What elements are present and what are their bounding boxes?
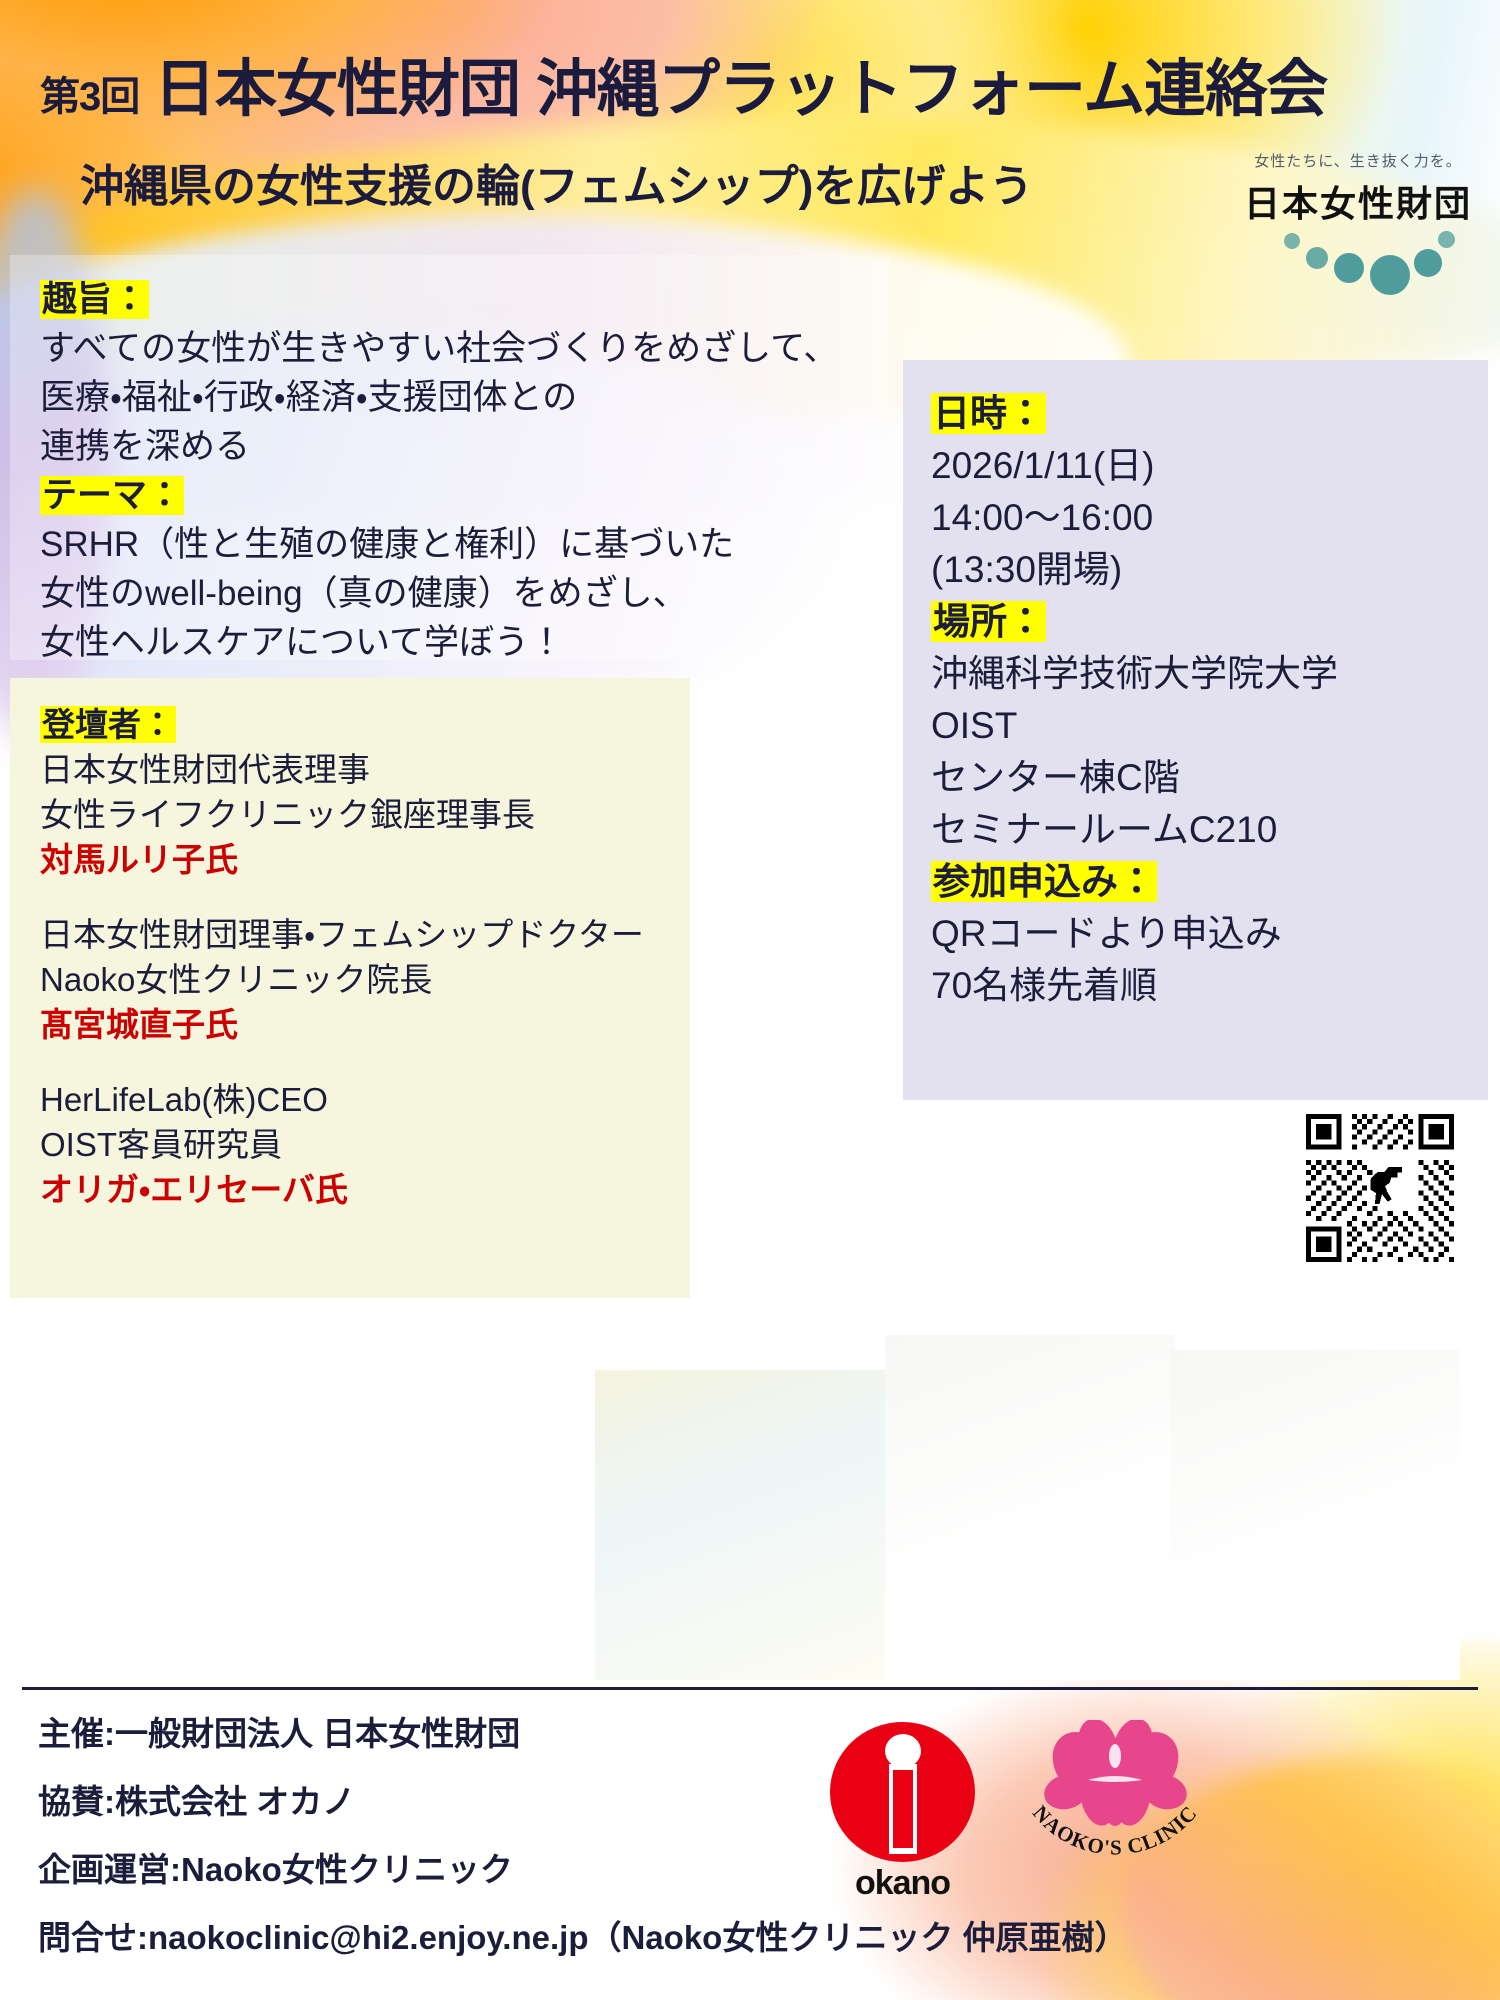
purpose-line-2: 医療・福祉・行政・経済・支援団体との xyxy=(40,373,838,422)
event-info-panel: 日時： 2026/1/11(日) 14:00～16:00 (13:30開場) 場… xyxy=(903,360,1488,1100)
speaker-affiliation: 女性ライフクリニック銀座理事長 xyxy=(40,792,644,837)
speaker-affiliation: 日本女性財団代表理事 xyxy=(40,747,644,792)
naoko-clinic-text: NAOKO'S CLINIC xyxy=(1028,1801,1202,1860)
speaker-name: 髙宮城直子氏 xyxy=(40,1002,644,1047)
qr-code[interactable] xyxy=(1300,1108,1472,1280)
purpose-theme-text: 趣旨： すべての女性が生きやすい社会づくりをめざして、 医療・福祉・行政・経済・… xyxy=(40,275,838,667)
speaker-affiliation: HerLifeLab(株)CEO xyxy=(40,1077,644,1122)
apply-line-2: 70名様先着順 xyxy=(931,960,1338,1012)
theme-line-3: 女性ヘルスケアについて学ぼう！ xyxy=(40,618,838,667)
speakers-text: 登壇者： 日本女性財団代表理事 女性ライフクリニック銀座理事長 対馬ルリ子氏 日… xyxy=(40,702,644,1212)
spacer xyxy=(40,1047,644,1077)
naoko-clinic-logo: NAOKO'S CLINIC xyxy=(1000,1718,1230,1913)
apply-line-1: QRコードより申込み xyxy=(931,908,1338,960)
datetime-time: 14:00～16:00 xyxy=(931,492,1338,544)
speaker-entry: HerLifeLab(株)CEO OIST客員研究員 オリガ・エリセーバ氏 xyxy=(40,1077,644,1212)
place-label: 場所： xyxy=(931,601,1046,642)
speakers-panel: 登壇者： 日本女性財団代表理事 女性ライフクリニック銀座理事長 対馬ルリ子氏 日… xyxy=(10,678,690,1298)
speaker-affiliation: Naoko女性クリニック院長 xyxy=(40,957,644,1002)
title-edition: 第3回 xyxy=(40,75,139,119)
speaker-affiliation: 日本女性財団理事・フェムシップドクター xyxy=(40,912,644,957)
foundation-name: 日本女性財団 xyxy=(1238,175,1478,227)
footer-contact: 問合せ:naokoclinic@hi2.enjoy.ne.jp（Naoko女性ク… xyxy=(38,1904,1128,1972)
qr-code-icon xyxy=(1306,1114,1454,1262)
place-line-2: OIST xyxy=(931,700,1338,752)
theme-label: テーマ： xyxy=(40,476,184,515)
speakers-label: 登壇者： xyxy=(40,706,176,743)
speaker-photo-1 xyxy=(595,1370,885,1680)
okano-logo: okano xyxy=(815,1722,990,1907)
naoko-clinic-wordmark: NAOKO'S CLINIC xyxy=(1000,1718,1230,1913)
place-line-4: セミナールームC210 xyxy=(931,804,1338,856)
speaker-photo-2 xyxy=(885,1335,1175,1680)
speaker-photo-3 xyxy=(1170,1350,1460,1680)
speaker-entry: 日本女性財団代表理事 女性ライフクリニック銀座理事長 対馬ルリ子氏 xyxy=(40,747,644,882)
place-line-3: センター棟C階 xyxy=(931,752,1338,804)
purpose-line-1: すべての女性が生きやすい社会づくりをめざして、 xyxy=(40,324,838,373)
speaker-affiliation: OIST客員研究員 xyxy=(40,1122,644,1167)
foundation-logo: 女性たちに、生き抜く力を。 日本女性財団 xyxy=(1238,150,1478,277)
apply-label: 参加申込み： xyxy=(931,861,1157,902)
svg-text:NAOKO'S CLINIC: NAOKO'S CLINIC xyxy=(1028,1801,1202,1860)
datetime-label: 日時： xyxy=(931,393,1046,434)
speaker-photos xyxy=(595,1325,1500,1680)
poster-header: 第3回 日本女性財団 沖縄プラットフォーム連絡会 沖縄県の女性支援の輪(フェムシ… xyxy=(0,0,1500,265)
theme-line-1: SRHR（性と生殖の健康と権利）に基づいた xyxy=(40,520,838,569)
poster-root: 第3回 日本女性財団 沖縄プラットフォーム連絡会 沖縄県の女性支援の輪(フェムシ… xyxy=(0,0,1500,2000)
purpose-theme-panel: 趣旨： すべての女性が生きやすい社会づくりをめざして、 医療・福祉・行政・経済・… xyxy=(10,255,890,660)
foundation-tagline: 女性たちに、生き抜く力を。 xyxy=(1238,150,1478,171)
foundation-dots-icon xyxy=(1238,231,1478,277)
spacer xyxy=(40,882,644,912)
footer-divider xyxy=(22,1687,1478,1690)
okano-wordmark: okano xyxy=(815,1864,990,1903)
theme-line-2: 女性のwell-being（真の健康）をめざし、 xyxy=(40,569,838,618)
place-line-1: 沖縄科学技術大学院大学 xyxy=(931,648,1338,700)
speaker-entry: 日本女性財団理事・フェムシップドクター Naoko女性クリニック院長 髙宮城直子… xyxy=(40,912,644,1047)
okano-mark-icon xyxy=(830,1722,975,1862)
speaker-name: 対馬ルリ子氏 xyxy=(40,837,644,882)
purpose-label: 趣旨： xyxy=(40,280,149,319)
speaker-name: オリガ・エリセーバ氏 xyxy=(40,1167,644,1212)
page-subtitle: 沖縄県の女性支援の輪(フェムシップ)を広げよう xyxy=(80,150,1033,214)
purpose-line-3: 連携を深める xyxy=(40,422,838,471)
page-title: 第3回 日本女性財団 沖縄プラットフォーム連絡会 xyxy=(40,38,1327,128)
datetime-date: 2026/1/11(日) xyxy=(931,440,1338,492)
datetime-open: (13:30開場) xyxy=(931,544,1338,596)
event-info-text: 日時： 2026/1/11(日) 14:00～16:00 (13:30開場) 場… xyxy=(931,388,1338,1012)
title-text: 日本女性財団 沖縄プラットフォーム連絡会 xyxy=(154,55,1327,124)
